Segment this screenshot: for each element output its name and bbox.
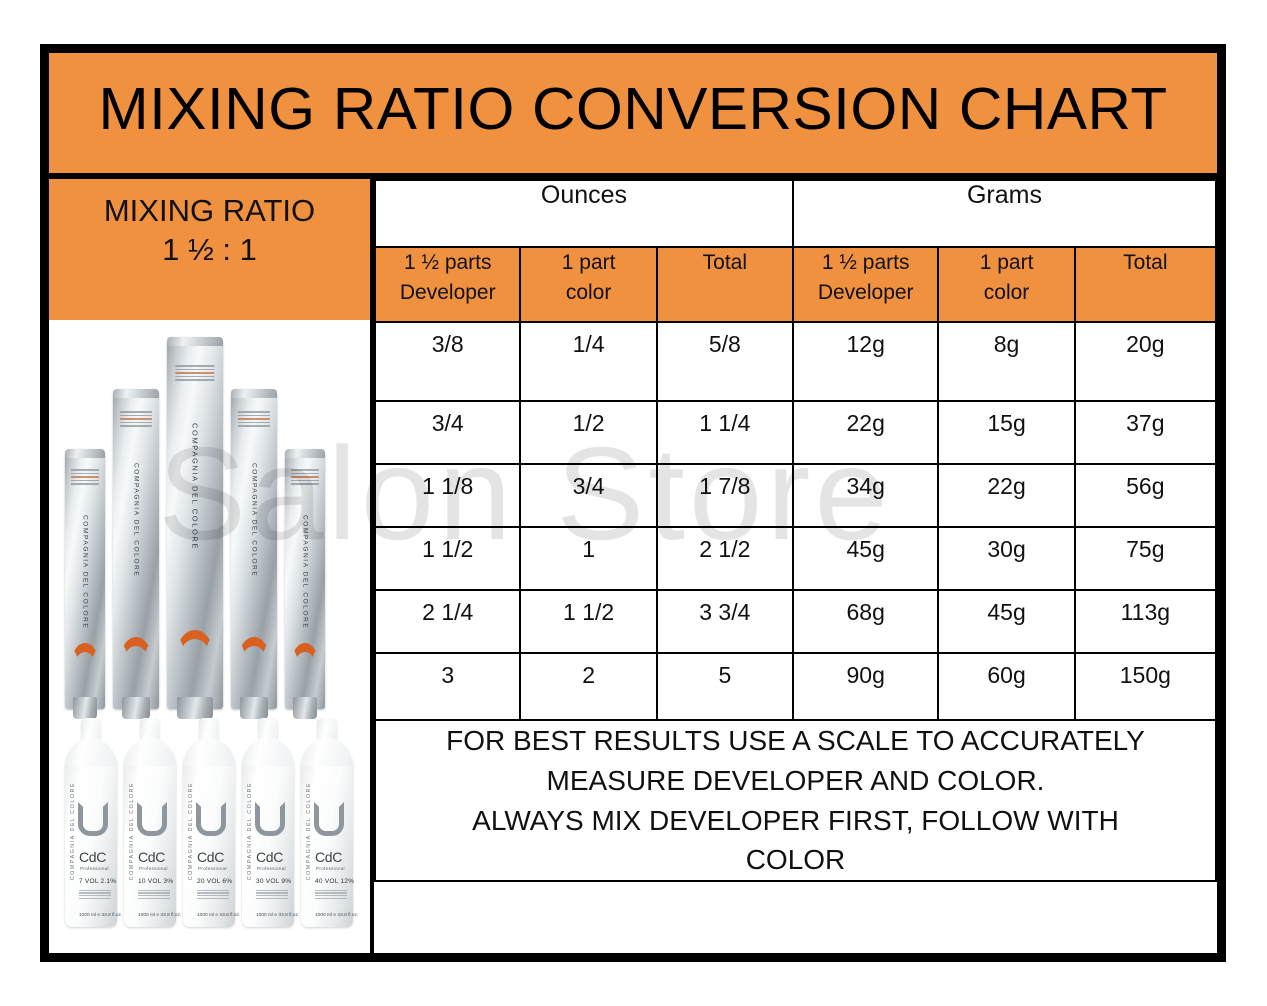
cell: 22g bbox=[793, 401, 938, 464]
page-title: MIXING RATIO CONVERSION CHART bbox=[98, 80, 1167, 147]
col-header-line1: 1 ½ parts bbox=[794, 248, 937, 278]
cell: 1 1/2 bbox=[375, 527, 520, 590]
cdc-hook-icon bbox=[314, 802, 344, 836]
bottle-mark: CdC bbox=[315, 850, 342, 864]
col-header-g-developer: 1 ½ parts Developer bbox=[793, 247, 938, 322]
cell: 60g bbox=[938, 653, 1074, 720]
bottle-brand-label: COMPAGNIA DEL COLORE bbox=[70, 782, 76, 880]
bottle-brand-label: COMPAGNIA DEL COLORE bbox=[188, 782, 194, 880]
bottle-shoulder bbox=[301, 738, 353, 766]
table-row: 3/4 1/2 1 1/4 22g 15g 37g bbox=[375, 401, 1216, 464]
cell: 2 bbox=[520, 653, 656, 720]
tube-brand-label: COMPAGNIA DEL COLORE bbox=[251, 463, 258, 577]
bottle-mark: CdC bbox=[197, 850, 224, 864]
cdc-hook-icon bbox=[255, 802, 285, 836]
tube-swoosh-icon bbox=[120, 637, 152, 661]
cell: 8g bbox=[938, 322, 1074, 401]
chart-body: MIXING RATIO 1 ½ : 1 COMPAGNIA DEL COLOR… bbox=[49, 179, 1217, 953]
bottle-fineprint bbox=[315, 888, 347, 901]
instructions-note: FOR BEST RESULTS USE A SCALE TO ACCURATE… bbox=[375, 720, 1216, 881]
conversion-table-column: Ounces Grams 1 ½ parts Developer 1 part … bbox=[374, 179, 1217, 953]
tube-crimp bbox=[167, 337, 223, 346]
cell: 1 1/8 bbox=[375, 464, 520, 527]
bottle-volume: 7 VOL 2.1% bbox=[79, 878, 116, 885]
cell: 20g bbox=[1075, 322, 1216, 401]
mixing-ratio-header: MIXING RATIO 1 ½ : 1 bbox=[49, 179, 374, 320]
tube-swoosh-icon bbox=[238, 637, 270, 661]
tube-text-block bbox=[175, 363, 214, 383]
color-tube: COMPAGNIA DEL COLORE bbox=[285, 449, 325, 709]
col-header-line1: 1 part bbox=[939, 248, 1073, 278]
cell: 1/4 bbox=[520, 322, 656, 401]
bottle-shoulder bbox=[65, 738, 117, 766]
mixing-ratio-value: 1 ½ : 1 bbox=[162, 230, 257, 270]
tube-text-block bbox=[71, 467, 99, 487]
left-column: MIXING RATIO 1 ½ : 1 COMPAGNIA DEL COLOR… bbox=[49, 179, 374, 953]
bottle-sub: Professional bbox=[316, 866, 345, 871]
bottle-volume: 20 VOL 6% bbox=[197, 878, 232, 885]
cell: 22g bbox=[938, 464, 1074, 527]
bottle-fineprint bbox=[138, 888, 170, 901]
col-header-line2: color bbox=[939, 278, 1073, 308]
cell: 2 1/2 bbox=[657, 527, 793, 590]
table-sub-header-row: 1 ½ parts Developer 1 part color Total 1… bbox=[375, 247, 1216, 322]
col-header-line1: Total bbox=[1076, 248, 1215, 278]
color-tube: COMPAGNIA DEL COLORE bbox=[65, 449, 105, 709]
product-image-pane: COMPAGNIA DEL COLORE COMPAGNIA DEL COLOR… bbox=[49, 320, 374, 953]
bottle-mark: CdC bbox=[138, 850, 165, 864]
note-line-2: MEASURE DEVELOPER AND COLOR. bbox=[376, 761, 1215, 801]
developer-bottle: COMPAGNIA DEL COLORE CdC Professional 10… bbox=[124, 744, 176, 927]
developer-bottle: COMPAGNIA DEL COLORE CdC Professional 40… bbox=[301, 744, 353, 927]
tube-crimp bbox=[113, 389, 159, 398]
tube-crimp bbox=[285, 449, 325, 458]
cell: 12g bbox=[793, 322, 938, 401]
col-header-line2: Developer bbox=[376, 278, 519, 308]
note-line-1: FOR BEST RESULTS USE A SCALE TO ACCURATE… bbox=[376, 721, 1215, 761]
bottle-size: 1000 ml e 33.8 fl.oz. bbox=[256, 913, 299, 918]
col-header-oz-color: 1 part color bbox=[520, 247, 656, 322]
note-line-4: COLOR bbox=[376, 840, 1215, 880]
bottle-mark: CdC bbox=[256, 850, 283, 864]
cell: 2 1/4 bbox=[375, 590, 520, 653]
col-header-g-total: Total bbox=[1075, 247, 1216, 322]
tube-cap bbox=[240, 697, 268, 719]
tube-text-block bbox=[238, 409, 270, 429]
table-row: 3/8 1/4 5/8 12g 8g 20g bbox=[375, 322, 1216, 401]
bottle-sub: Professional bbox=[198, 866, 227, 871]
developer-bottle: COMPAGNIA DEL COLORE CdC Professional 7 … bbox=[65, 744, 117, 927]
bottle-shoulder bbox=[183, 738, 235, 766]
bottle-brand-label: COMPAGNIA DEL COLORE bbox=[306, 782, 312, 880]
cell: 68g bbox=[793, 590, 938, 653]
cell: 34g bbox=[793, 464, 938, 527]
tube-swoosh-icon bbox=[291, 643, 319, 665]
cell: 1/2 bbox=[520, 401, 656, 464]
cell: 1 7/8 bbox=[657, 464, 793, 527]
cdc-hook-icon bbox=[78, 802, 108, 836]
cell: 3 bbox=[375, 653, 520, 720]
bottle-volume: 30 VOL 9% bbox=[256, 878, 291, 885]
table-row: 1 1/8 3/4 1 7/8 34g 22g 56g bbox=[375, 464, 1216, 527]
bottle-size: 1000 ml e 33.8 fl.oz. bbox=[315, 913, 358, 918]
cell: 1 1/4 bbox=[657, 401, 793, 464]
bottle-volume: 10 VOL 3% bbox=[138, 878, 173, 885]
bottle-shoulder bbox=[242, 738, 294, 766]
chart-frame: MIXING RATIO CONVERSION CHART MIXING RAT… bbox=[40, 44, 1226, 962]
bottle-fineprint bbox=[79, 888, 111, 901]
tube-text-block bbox=[291, 467, 319, 487]
col-header-line1: 1 part bbox=[521, 248, 655, 278]
tube-cap bbox=[293, 697, 317, 719]
developer-bottle: COMPAGNIA DEL COLORE CdC Professional 20… bbox=[183, 744, 235, 927]
conversion-table: Ounces Grams 1 ½ parts Developer 1 part … bbox=[374, 179, 1217, 882]
tube-cap bbox=[122, 697, 150, 719]
bottle-mark: CdC bbox=[79, 850, 106, 864]
table-row: 3 2 5 90g 60g 150g bbox=[375, 653, 1216, 720]
cell: 90g bbox=[793, 653, 938, 720]
cell: 45g bbox=[793, 527, 938, 590]
cell: 45g bbox=[938, 590, 1074, 653]
tube-cap bbox=[73, 697, 97, 719]
title-banner: MIXING RATIO CONVERSION CHART bbox=[49, 53, 1217, 179]
bottle-sub: Professional bbox=[257, 866, 286, 871]
color-tubes-image: COMPAGNIA DEL COLORE COMPAGNIA DEL COLOR… bbox=[57, 324, 370, 719]
cell: 75g bbox=[1075, 527, 1216, 590]
col-header-line2: Developer bbox=[794, 278, 937, 308]
tube-cap bbox=[177, 697, 213, 719]
col-header-oz-developer: 1 ½ parts Developer bbox=[375, 247, 520, 322]
cell: 37g bbox=[1075, 401, 1216, 464]
cell: 150g bbox=[1075, 653, 1216, 720]
color-tube: COMPAGNIA DEL COLORE bbox=[231, 389, 277, 709]
bottle-sub: Professional bbox=[139, 866, 168, 871]
cell: 3 3/4 bbox=[657, 590, 793, 653]
col-header-oz-total: Total bbox=[657, 247, 793, 322]
developer-bottle: COMPAGNIA DEL COLORE CdC Professional 30… bbox=[242, 744, 294, 927]
bottle-fineprint bbox=[197, 888, 229, 901]
bottle-volume: 40 VOL 12% bbox=[315, 878, 354, 885]
cell: 113g bbox=[1075, 590, 1216, 653]
col-header-line1: 1 ½ parts bbox=[376, 248, 519, 278]
tube-crimp bbox=[65, 449, 105, 458]
bottle-brand-label: COMPAGNIA DEL COLORE bbox=[129, 782, 135, 880]
table-note-row: FOR BEST RESULTS USE A SCALE TO ACCURATE… bbox=[375, 720, 1216, 881]
cell: 1 1/2 bbox=[520, 590, 656, 653]
table-group-header-row: Ounces Grams bbox=[375, 180, 1216, 247]
bottle-size: 1000 ml e 33.8 fl.oz. bbox=[197, 913, 240, 918]
tube-brand-label: COMPAGNIA DEL COLORE bbox=[133, 463, 140, 577]
table-row: 2 1/4 1 1/2 3 3/4 68g 45g 113g bbox=[375, 590, 1216, 653]
col-header-g-color: 1 part color bbox=[938, 247, 1074, 322]
cell: 15g bbox=[938, 401, 1074, 464]
table-row: 1 1/2 1 2 1/2 45g 30g 75g bbox=[375, 527, 1216, 590]
developer-bottles-image: COMPAGNIA DEL COLORE CdC Professional 7 … bbox=[59, 718, 369, 953]
cell: 30g bbox=[938, 527, 1074, 590]
cell: 3/4 bbox=[520, 464, 656, 527]
mixing-ratio-label: MIXING RATIO bbox=[104, 193, 315, 230]
tube-crimp bbox=[231, 389, 277, 398]
cdc-hook-icon bbox=[137, 802, 167, 836]
group-header-grams: Grams bbox=[793, 180, 1216, 247]
bottle-fineprint bbox=[256, 888, 288, 901]
note-line-3: ALWAYS MIX DEVELOPER FIRST, FOLLOW WITH bbox=[376, 801, 1215, 841]
color-tube: COMPAGNIA DEL COLORE bbox=[113, 389, 159, 709]
bottle-brand-label: COMPAGNIA DEL COLORE bbox=[247, 782, 253, 880]
cell: 5 bbox=[657, 653, 793, 720]
tube-brand-label: COMPAGNIA DEL COLORE bbox=[191, 423, 200, 550]
col-header-line1: Total bbox=[658, 248, 792, 278]
group-header-ounces: Ounces bbox=[375, 180, 793, 247]
col-header-line2: color bbox=[521, 278, 655, 308]
color-tube: COMPAGNIA DEL COLORE bbox=[167, 337, 223, 709]
bottle-sub: Professional bbox=[80, 866, 109, 871]
bottle-size: 1000 ml e 33.8 fl.oz. bbox=[79, 913, 122, 918]
cell: 56g bbox=[1075, 464, 1216, 527]
cell: 3/4 bbox=[375, 401, 520, 464]
cell: 3/8 bbox=[375, 322, 520, 401]
tube-brand-label: COMPAGNIA DEL COLORE bbox=[302, 515, 309, 629]
tube-text-block bbox=[120, 409, 152, 429]
bottle-shoulder bbox=[124, 738, 176, 766]
bottle-size: 1000 ml e 33.8 fl.oz. bbox=[138, 913, 181, 918]
cell: 5/8 bbox=[657, 322, 793, 401]
tube-swoosh-icon bbox=[176, 630, 214, 657]
cdc-hook-icon bbox=[196, 802, 226, 836]
tube-brand-label: COMPAGNIA DEL COLORE bbox=[82, 515, 89, 629]
tube-swoosh-icon bbox=[71, 643, 99, 665]
cell: 1 bbox=[520, 527, 656, 590]
